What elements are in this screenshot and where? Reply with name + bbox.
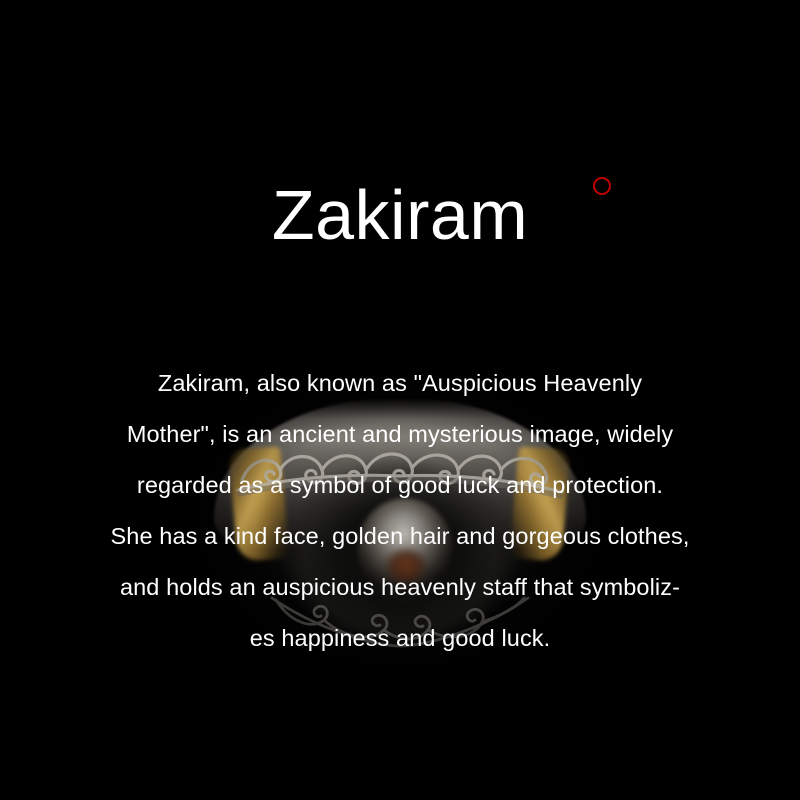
description-paragraph: Zakiram, also known as "Auspicious Heave… bbox=[52, 358, 748, 664]
description-line: Mother", is an ancient and mysterious im… bbox=[52, 409, 748, 460]
red-circle-marker-icon bbox=[593, 177, 611, 195]
description-line: regarded as a symbol of good luck and pr… bbox=[52, 460, 748, 511]
description-line: Zakiram, also known as "Auspicious Heave… bbox=[52, 358, 748, 409]
description-line: and holds an auspicious heavenly staff t… bbox=[52, 562, 748, 613]
product-description-card: Zakiram Zakiram, also known as "Auspicio… bbox=[0, 0, 800, 800]
text-overlay: Zakiram Zakiram, also known as "Auspicio… bbox=[0, 0, 800, 800]
description-line: es happiness and good luck. bbox=[52, 613, 748, 664]
description-line: She has a kind face, golden hair and gor… bbox=[52, 511, 748, 562]
page-title: Zakiram bbox=[0, 180, 800, 250]
